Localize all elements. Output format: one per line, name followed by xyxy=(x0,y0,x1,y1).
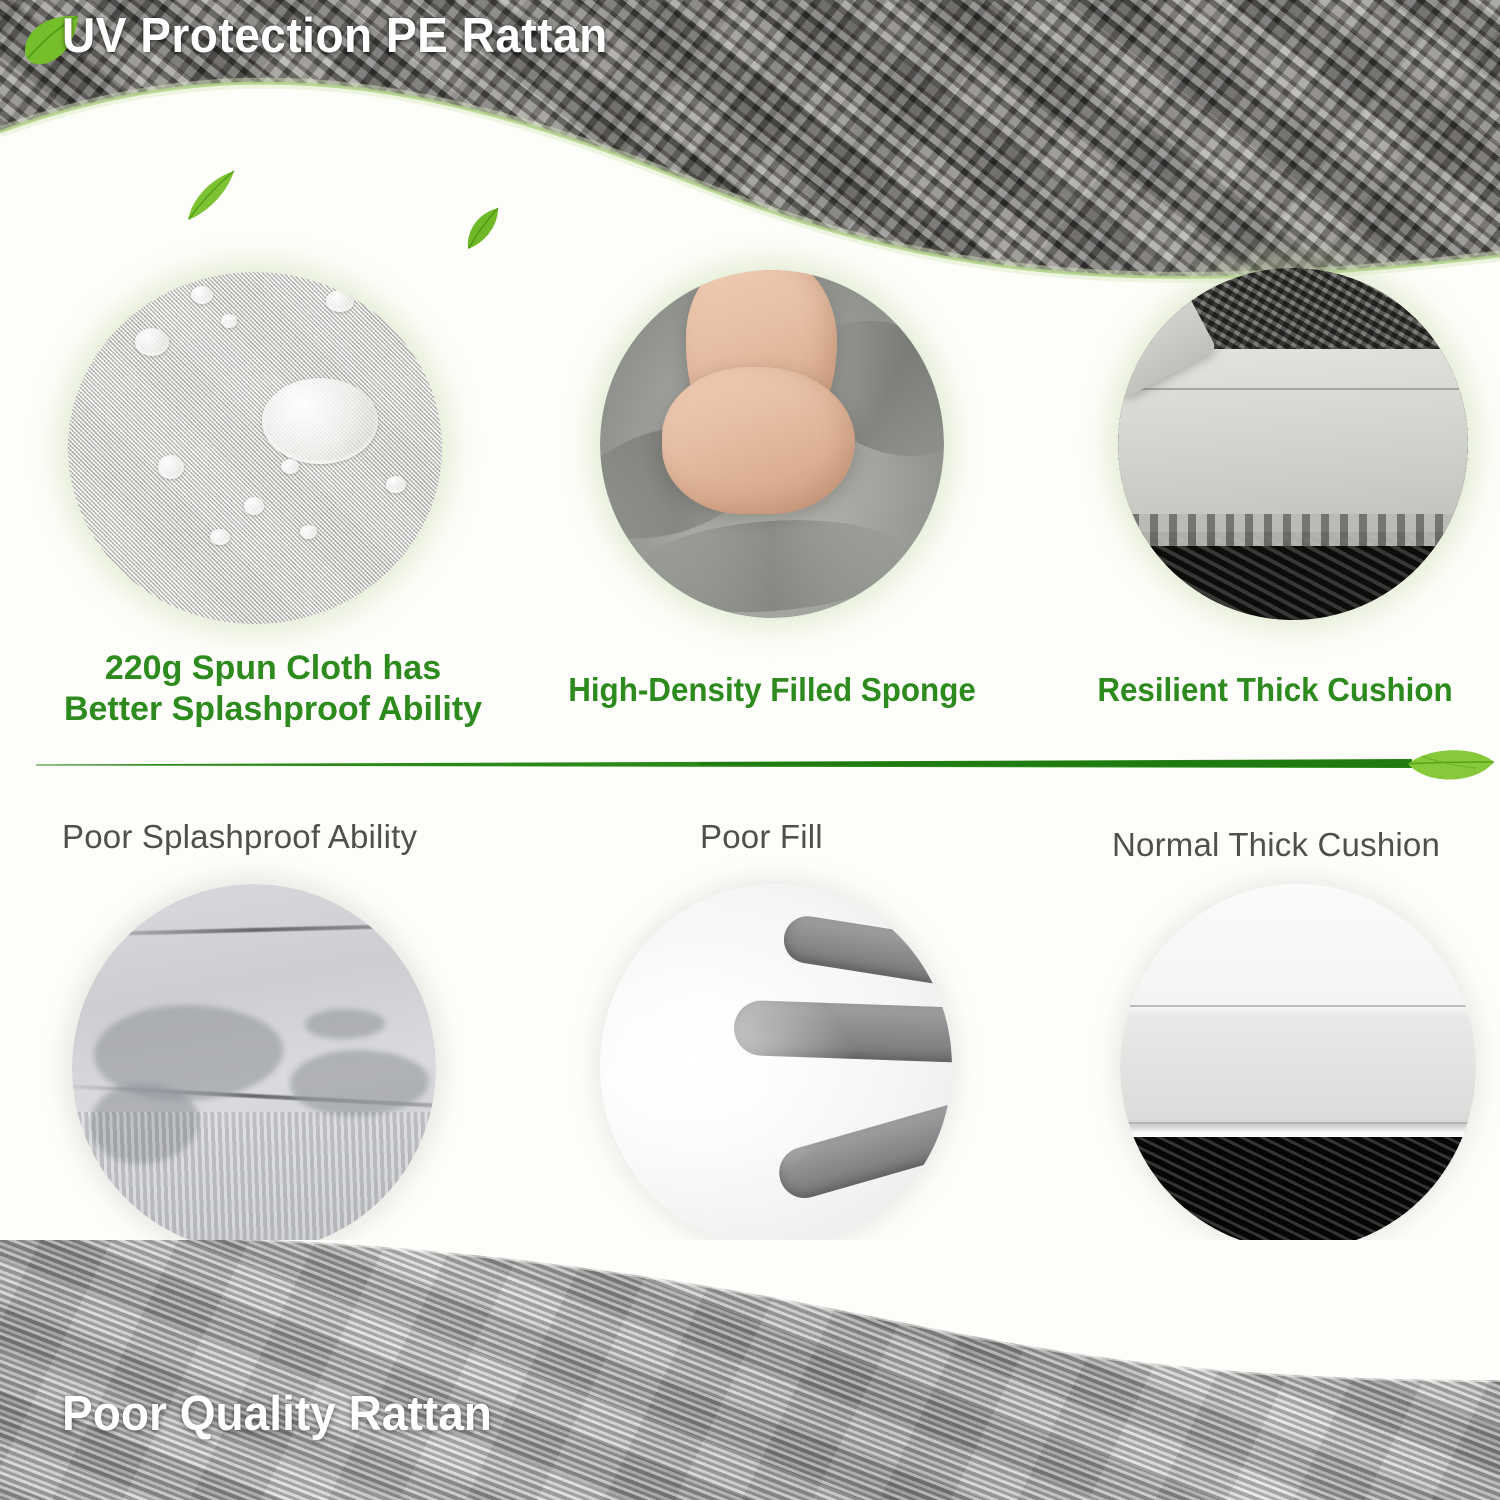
image-thick-cushion xyxy=(1118,268,1468,620)
caption-poor-fill: Poor Fill xyxy=(700,818,823,856)
bottom-rattan-banner: Poor Quality Rattan xyxy=(0,1240,1500,1500)
caption-spun-cloth: 220g Spun Cloth has Better Splashproof A… xyxy=(38,648,508,731)
footer-title: Poor Quality Rattan xyxy=(62,1386,492,1442)
caption-filled-sponge: High-Density Filled Sponge xyxy=(544,670,1000,710)
leaf-icon xyxy=(182,168,240,230)
leaf-icon xyxy=(462,205,504,253)
image-filled-sponge xyxy=(600,270,944,618)
page-title: UV Protection PE Rattan xyxy=(62,8,608,64)
image-normal-cushion xyxy=(1120,884,1476,1250)
caption-thick-cushion: Resilient Thick Cushion xyxy=(1071,670,1480,710)
caption-poor-splashproof: Poor Splashproof Ability xyxy=(62,818,417,856)
leaf-icon xyxy=(1402,744,1500,792)
image-poor-fill xyxy=(600,884,952,1248)
image-poor-splashproof xyxy=(72,884,436,1252)
top-rattan-banner: UV Protection PE Rattan xyxy=(0,0,1500,290)
caption-normal-cushion: Normal Thick Cushion xyxy=(1112,826,1440,864)
image-spun-cloth xyxy=(68,272,442,624)
bottom-wave-divider xyxy=(0,1240,1500,1500)
green-divider xyxy=(0,742,1500,788)
infographic-root: UV Protection PE Rattan xyxy=(0,0,1500,1500)
